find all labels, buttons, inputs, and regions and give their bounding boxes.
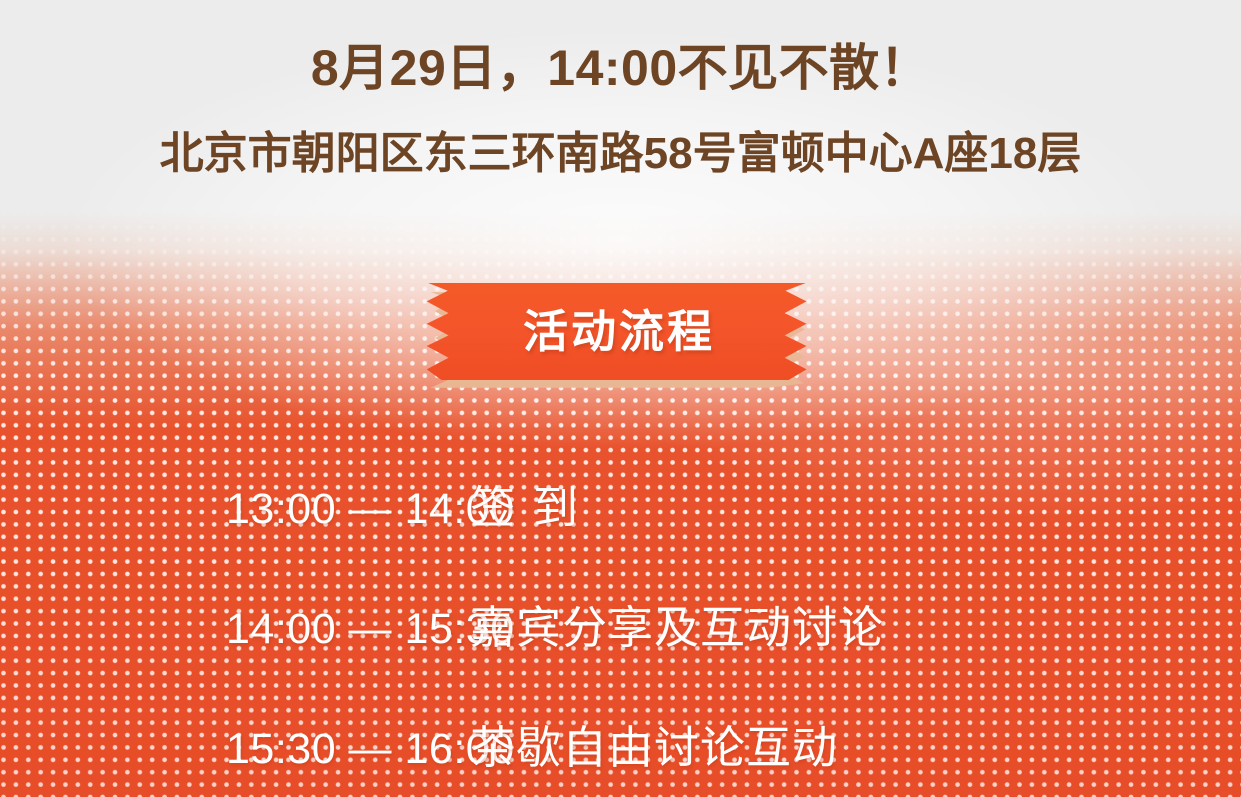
schedule-time: 15:30 — 16:00 [0,689,470,797]
schedule-row: 13:00 — 14:00 签到 [0,448,1241,568]
schedule-item: 签到 [470,448,596,568]
event-schedule-poster: 8月29日，14:00不见不散！ 北京市朝阳区东三环南路58号富顿中心A座18层… [0,0,1241,797]
event-headline: 8月29日，14:00不见不散！ [0,0,1241,98]
banner-label: 活动流程 [519,308,715,356]
schedule-row: 14:00 — 15:30 嘉宾分享及互动讨论 [0,568,1241,688]
schedule-row: 15:30 — 16:00 茶歇自由讨论互动 [0,688,1241,797]
banner-ribbon: 活动流程 [422,283,812,380]
section-banner: 活动流程 [422,283,820,387]
schedule-time: 13:00 — 14:00 [0,449,470,569]
schedule-time: 14:00 — 15:30 [0,569,470,689]
header-block: 8月29日，14:00不见不散！ 北京市朝阳区东三环南路58号富顿中心A座18层 [0,0,1241,181]
schedule-list: 13:00 — 14:00 签到 14:00 — 15:30 嘉宾分享及互动讨论… [0,448,1241,797]
schedule-item: 嘉宾分享及互动讨论 [470,568,884,688]
event-address: 北京市朝阳区东三环南路58号富顿中心A座18层 [0,98,1241,181]
schedule-item: 茶歇自由讨论互动 [470,688,838,797]
